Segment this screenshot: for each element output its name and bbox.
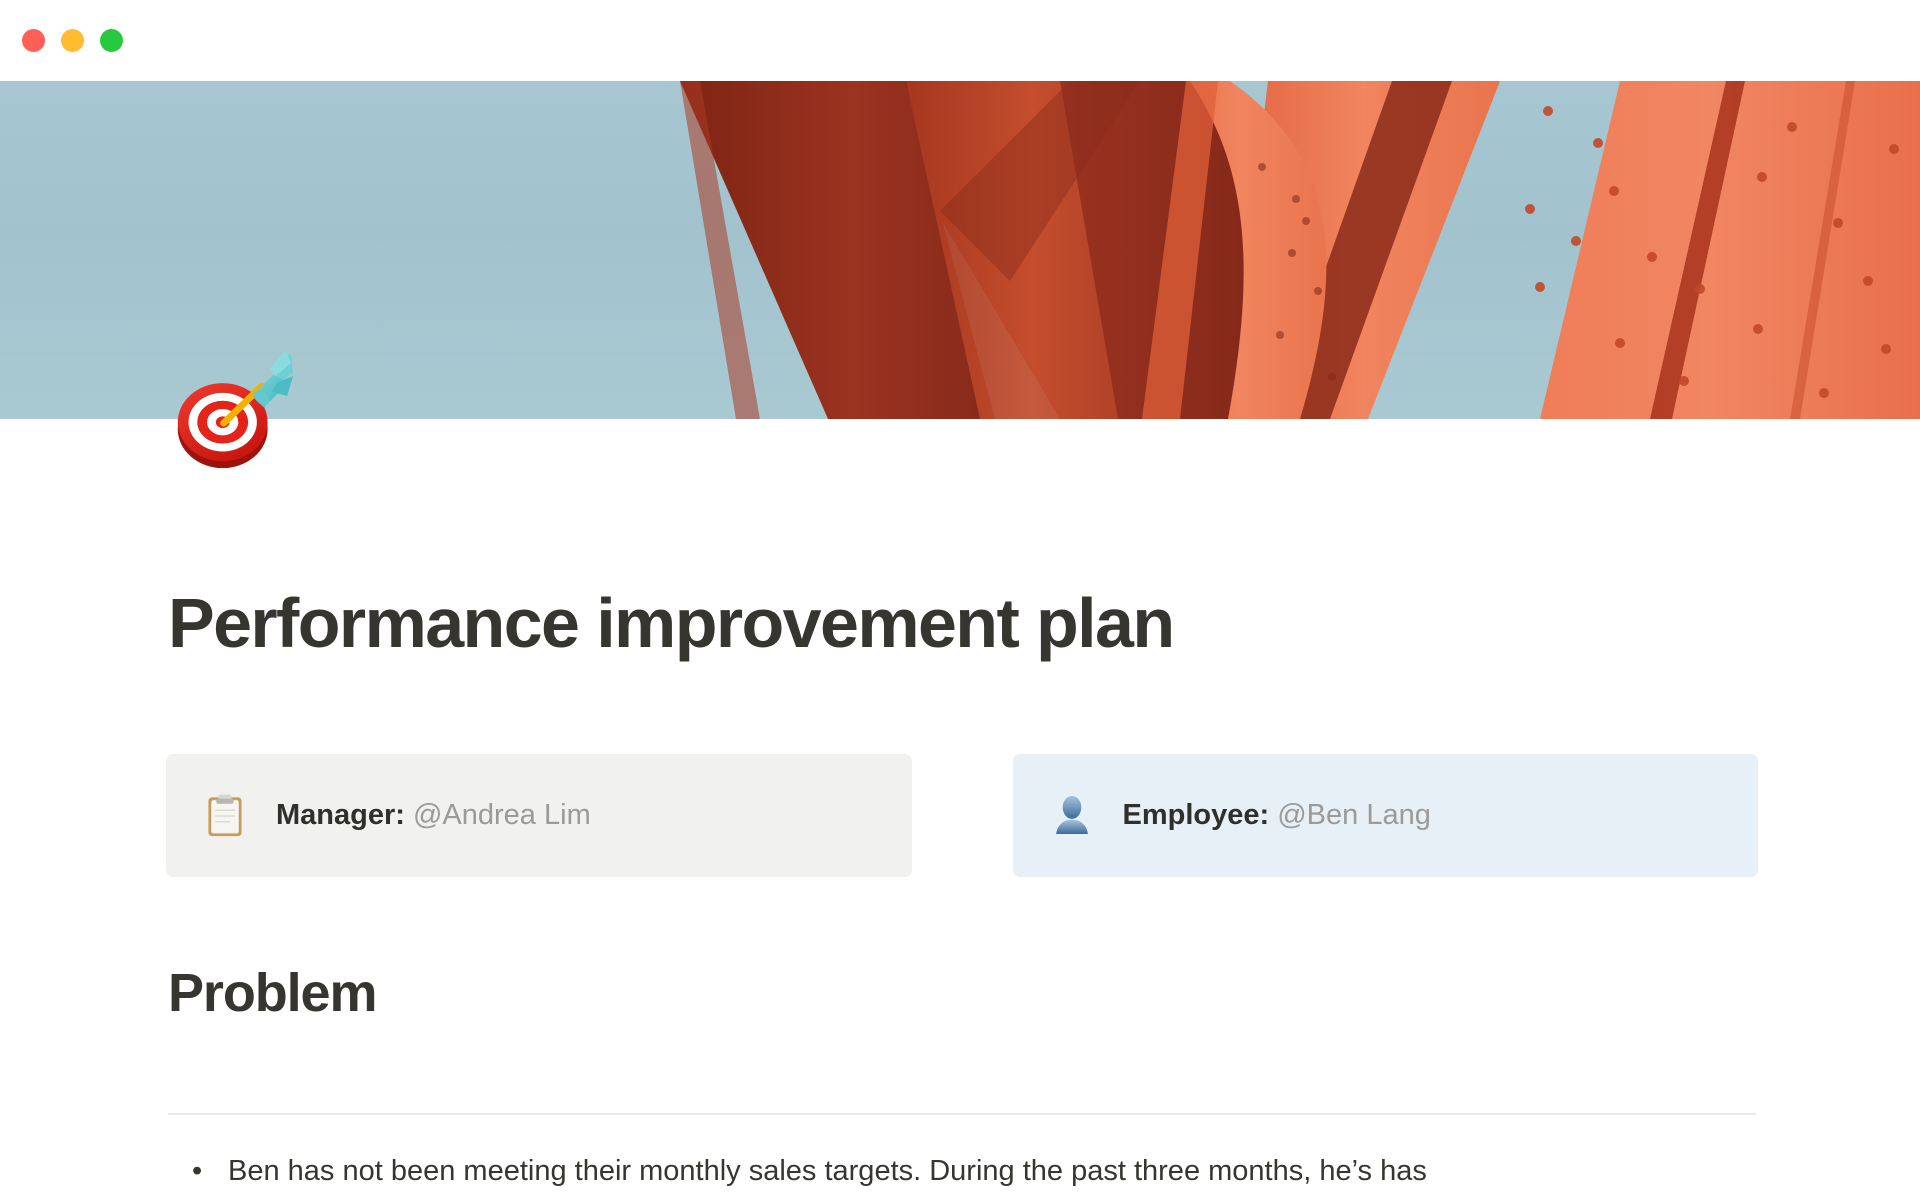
minimize-window-button[interactable]: [61, 29, 84, 52]
clipboard-icon: [202, 793, 248, 839]
clipboard-emoji-glyph: [202, 793, 248, 839]
bullet-marker-icon: •: [168, 1150, 202, 1194]
bust-in-silhouette-icon: [1049, 793, 1095, 839]
callout-employee-label: Employee:: [1123, 799, 1270, 831]
section-divider: [168, 1113, 1756, 1115]
bust-in-silhouette-emoji-glyph: [1049, 793, 1095, 839]
callout-manager-text: Manager: @Andrea Lim: [276, 797, 591, 835]
page-body: Performance improvement plan: [0, 419, 1920, 1200]
window-titlebar: [0, 0, 1920, 81]
callout-manager-label: Manager:: [276, 799, 405, 831]
traffic-light-controls: [22, 29, 123, 52]
section-heading-problem[interactable]: Problem: [168, 964, 376, 1023]
callout-manager[interactable]: Manager: @Andrea Lim: [166, 754, 912, 877]
callout-employee-text: Employee: @Ben Lang: [1123, 797, 1431, 835]
close-window-button[interactable]: [22, 29, 45, 52]
app-window: Performance improvement plan: [0, 0, 1920, 1200]
bridge-photo-illustration: [0, 81, 1920, 419]
page-title[interactable]: Performance improvement plan: [168, 587, 1174, 661]
list-item[interactable]: • Ben has not been meeting their monthly…: [168, 1150, 1768, 1194]
callout-manager-mention[interactable]: @Andrea Lim: [413, 799, 591, 831]
maximize-window-button[interactable]: [100, 29, 123, 52]
callout-row: Manager: @Andrea Lim: [166, 754, 1758, 877]
callout-employee[interactable]: Employee: @Ben Lang: [1013, 754, 1759, 877]
callout-employee-mention[interactable]: @Ben Lang: [1277, 799, 1431, 831]
cover-image[interactable]: [0, 81, 1920, 419]
bullet-text: Ben has not been meeting their monthly s…: [202, 1150, 1768, 1194]
problem-bullet-list: • Ben has not been meeting their monthly…: [168, 1150, 1768, 1194]
